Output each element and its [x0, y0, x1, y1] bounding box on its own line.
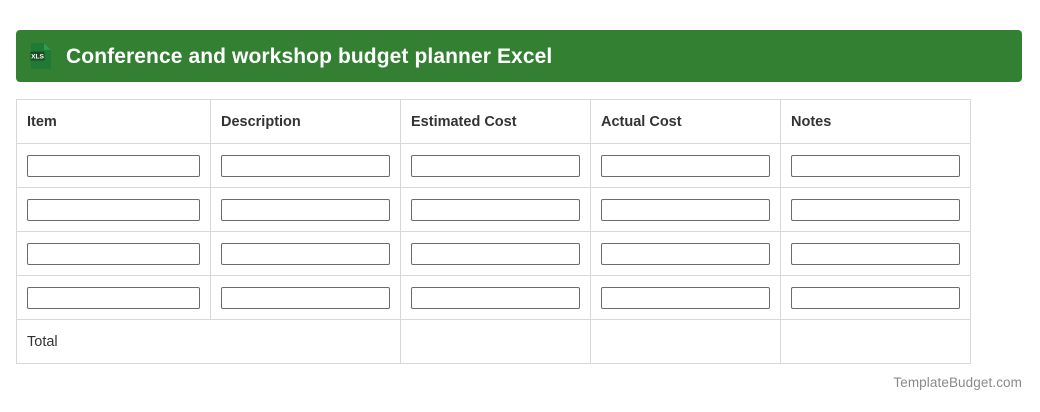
cell-actual-cost	[591, 188, 781, 232]
cell-notes	[781, 144, 971, 188]
description-input-row-2[interactable]	[221, 199, 390, 221]
description-input-row-1[interactable]	[221, 155, 390, 177]
table-header: Item Description Estimated Cost Actual C…	[17, 100, 971, 144]
column-header-item: Item	[17, 100, 211, 144]
column-header-description: Description	[211, 100, 401, 144]
cell-item	[17, 276, 211, 320]
item-input-row-1[interactable]	[27, 155, 200, 177]
estimated-cost-input-row-4[interactable]	[411, 287, 580, 309]
total-notes-cell	[781, 320, 971, 364]
xls-file-icon: XLS	[30, 42, 52, 70]
estimated-cost-input-row-1[interactable]	[411, 155, 580, 177]
svg-text:XLS: XLS	[31, 54, 44, 61]
title-bar: XLS Conference and workshop budget plann…	[16, 30, 1022, 82]
cell-description	[211, 144, 401, 188]
table-row	[17, 144, 971, 188]
header-row: Item Description Estimated Cost Actual C…	[17, 100, 971, 144]
notes-input-row-1[interactable]	[791, 155, 960, 177]
cell-description	[211, 232, 401, 276]
estimated-cost-input-row-2[interactable]	[411, 199, 580, 221]
cell-estimated-cost	[401, 144, 591, 188]
cell-item	[17, 232, 211, 276]
actual-cost-input-row-3[interactable]	[601, 243, 770, 265]
cell-actual-cost	[591, 232, 781, 276]
total-actual-cost-cell	[591, 320, 781, 364]
total-row: Total	[17, 320, 971, 364]
description-input-row-4[interactable]	[221, 287, 390, 309]
item-input-row-3[interactable]	[27, 243, 200, 265]
cell-actual-cost	[591, 276, 781, 320]
cell-notes	[781, 188, 971, 232]
cell-item	[17, 188, 211, 232]
notes-input-row-4[interactable]	[791, 287, 960, 309]
actual-cost-input-row-1[interactable]	[601, 155, 770, 177]
column-header-estimated-cost: Estimated Cost	[401, 100, 591, 144]
table-row	[17, 188, 971, 232]
estimated-cost-input-row-3[interactable]	[411, 243, 580, 265]
template-page: XLS Conference and workshop budget plann…	[0, 0, 1040, 412]
cell-item	[17, 144, 211, 188]
cell-actual-cost	[591, 144, 781, 188]
cell-description	[211, 276, 401, 320]
page-title: Conference and workshop budget planner E…	[66, 46, 552, 67]
table-row	[17, 232, 971, 276]
notes-input-row-3[interactable]	[791, 243, 960, 265]
column-header-notes: Notes	[781, 100, 971, 144]
budget-table: Item Description Estimated Cost Actual C…	[16, 99, 971, 364]
item-input-row-4[interactable]	[27, 287, 200, 309]
cell-notes	[781, 232, 971, 276]
table-body: Total	[17, 144, 971, 364]
cell-estimated-cost	[401, 232, 591, 276]
footer-credit: TemplateBudget.com	[893, 375, 1022, 390]
column-header-actual-cost: Actual Cost	[591, 100, 781, 144]
actual-cost-input-row-2[interactable]	[601, 199, 770, 221]
description-input-row-3[interactable]	[221, 243, 390, 265]
total-estimated-cost-cell	[401, 320, 591, 364]
cell-estimated-cost	[401, 276, 591, 320]
cell-notes	[781, 276, 971, 320]
item-input-row-2[interactable]	[27, 199, 200, 221]
notes-input-row-2[interactable]	[791, 199, 960, 221]
actual-cost-input-row-4[interactable]	[601, 287, 770, 309]
table-row	[17, 276, 971, 320]
total-label: Total	[17, 320, 401, 364]
cell-estimated-cost	[401, 188, 591, 232]
cell-description	[211, 188, 401, 232]
